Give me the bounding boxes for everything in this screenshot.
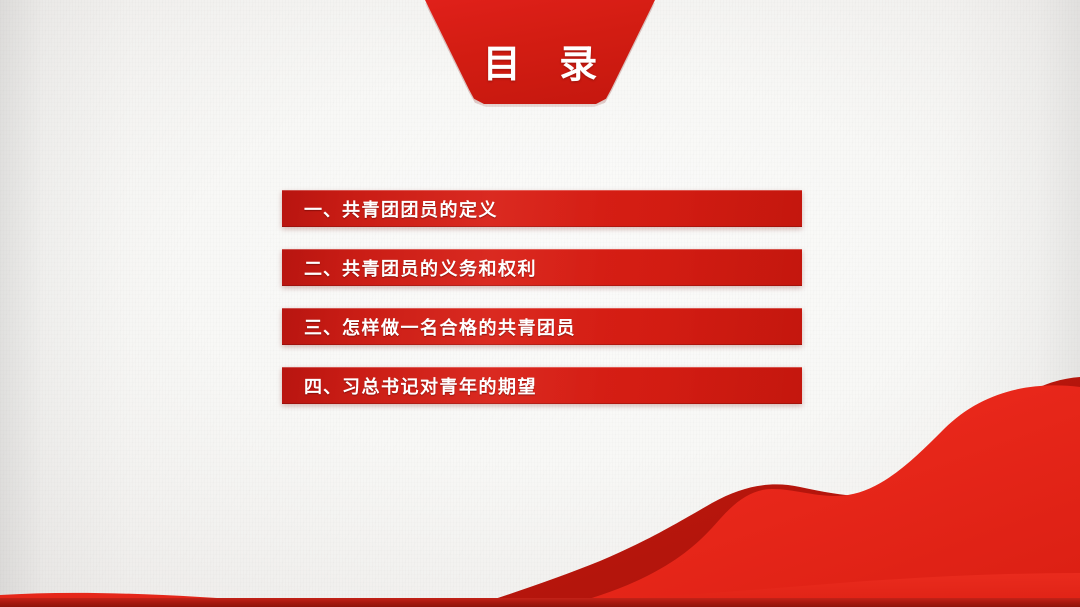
toc-item-4[interactable]: 四、 习总书记对青年的期望 bbox=[282, 367, 802, 404]
toc-item-2-number: 二、 bbox=[282, 255, 342, 281]
toc-item-2[interactable]: 二、 共青团员的义务和权利 bbox=[282, 249, 802, 286]
toc-item-3-label: 怎样做一名合格的共青团员 bbox=[342, 314, 576, 340]
toc-item-1-number: 一、 bbox=[282, 196, 342, 222]
toc-item-1[interactable]: 一、 共青团团员的定义 bbox=[282, 190, 802, 227]
toc-item-2-label: 共青团员的义务和权利 bbox=[342, 255, 537, 281]
toc-item-4-number: 四、 bbox=[282, 373, 342, 399]
page-title: 目 录 bbox=[469, 46, 612, 104]
title-banner: 目 录 bbox=[418, 0, 662, 104]
bottom-accent-strip bbox=[0, 598, 1080, 607]
presentation-slide: 目 录 一、 共青团团员的定义 二、 共青团员的义务和权利 三、 怎样做一名合格… bbox=[0, 0, 1080, 607]
title-banner-shape: 目 录 bbox=[418, 0, 662, 104]
toc-item-1-label: 共青团团员的定义 bbox=[342, 196, 498, 222]
toc-item-3[interactable]: 三、 怎样做一名合格的共青团员 bbox=[282, 308, 802, 345]
toc-item-4-label: 习总书记对青年的期望 bbox=[342, 373, 537, 399]
table-of-contents: 一、 共青团团员的定义 二、 共青团员的义务和权利 三、 怎样做一名合格的共青团… bbox=[282, 190, 802, 404]
toc-item-3-number: 三、 bbox=[282, 314, 342, 340]
